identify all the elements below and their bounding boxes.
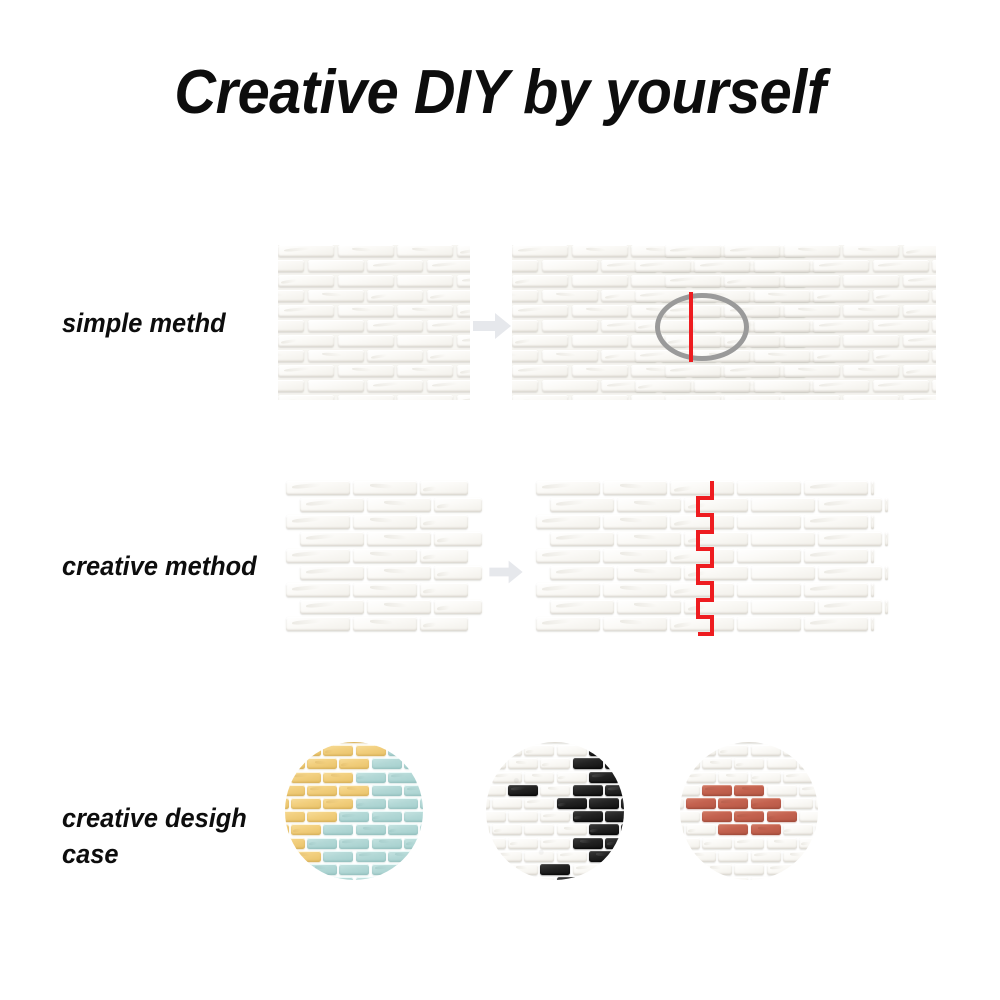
brick	[512, 245, 568, 257]
brick-strip-row	[536, 549, 874, 563]
brick-strip-row	[300, 566, 482, 580]
brick	[512, 380, 538, 392]
brick	[617, 566, 681, 580]
brick	[885, 600, 888, 614]
brick	[367, 320, 423, 332]
brick	[799, 742, 818, 743]
brick	[724, 245, 780, 257]
brick	[367, 600, 431, 614]
brick	[356, 798, 386, 809]
brick	[572, 395, 628, 400]
brick	[367, 380, 423, 392]
brick	[372, 811, 402, 822]
brick	[285, 772, 289, 783]
brick	[621, 824, 624, 835]
brick	[684, 532, 748, 546]
brick	[680, 864, 700, 875]
brick	[784, 335, 840, 347]
brick	[799, 864, 818, 875]
brick	[540, 742, 570, 743]
page-title: Creative DIY by yourself	[35, 58, 965, 128]
brick	[589, 798, 619, 809]
brick	[308, 260, 364, 272]
brick	[702, 864, 732, 875]
brick-strip-row	[286, 617, 468, 631]
brick	[680, 838, 700, 849]
brick	[397, 305, 453, 317]
brick	[492, 798, 522, 809]
brick-strip-row	[300, 532, 482, 546]
brick	[694, 260, 750, 272]
row-label-design-case: creative desigh case	[62, 800, 247, 872]
brick	[536, 583, 600, 597]
brick	[512, 365, 568, 377]
brick	[589, 851, 619, 862]
brick-strip-row	[536, 617, 874, 631]
brick	[724, 275, 780, 287]
brick	[540, 864, 570, 875]
brick-strip-row	[536, 515, 874, 529]
brick	[617, 498, 681, 512]
brick	[300, 566, 364, 580]
brick	[300, 498, 364, 512]
brick	[573, 785, 603, 796]
brick	[686, 877, 716, 880]
brick-strip-row	[286, 549, 468, 563]
brick	[572, 335, 628, 347]
brick-strip-row	[536, 481, 874, 495]
brick	[307, 811, 337, 822]
brick	[323, 824, 353, 835]
brick	[818, 532, 882, 546]
brick	[843, 305, 899, 317]
brick	[300, 600, 364, 614]
brick	[932, 260, 936, 272]
brick	[784, 275, 840, 287]
brick	[751, 877, 781, 880]
brick	[278, 350, 304, 362]
brick	[291, 851, 321, 862]
brick	[737, 481, 801, 495]
brick	[372, 864, 402, 875]
brick	[873, 380, 929, 392]
brick-wall	[680, 742, 818, 880]
brick	[784, 305, 840, 317]
brick	[356, 745, 386, 756]
brick	[557, 798, 587, 809]
brick	[670, 481, 734, 495]
brick	[323, 798, 353, 809]
brick	[557, 772, 587, 783]
brick	[734, 864, 764, 875]
brick	[420, 772, 423, 783]
brick	[285, 824, 289, 835]
brick	[818, 498, 882, 512]
brick-strip-row	[286, 515, 468, 529]
brick	[291, 877, 321, 880]
brick	[603, 481, 667, 495]
brick	[486, 798, 490, 809]
brick	[621, 772, 624, 783]
brick	[486, 838, 506, 849]
brick	[542, 380, 598, 392]
brick	[404, 785, 423, 796]
brick	[724, 395, 780, 400]
brick	[457, 335, 471, 347]
brick	[815, 877, 818, 880]
brick	[434, 532, 482, 546]
brick	[737, 617, 801, 631]
brick	[557, 877, 587, 880]
brick	[665, 275, 721, 287]
brick	[754, 260, 810, 272]
brick	[512, 275, 568, 287]
brick	[813, 260, 869, 272]
brick	[420, 877, 423, 880]
brick	[605, 811, 624, 822]
brick	[285, 838, 305, 849]
brick	[813, 320, 869, 332]
brick	[635, 380, 691, 392]
brick	[524, 824, 554, 835]
brick	[605, 838, 624, 849]
brick	[589, 772, 619, 783]
brick	[767, 785, 797, 796]
brick	[367, 566, 431, 580]
brick	[285, 851, 289, 862]
brick	[734, 838, 764, 849]
brick	[420, 798, 423, 809]
brick	[278, 245, 334, 257]
brick	[372, 742, 402, 743]
brick	[512, 260, 538, 272]
brick	[308, 320, 364, 332]
brick	[783, 745, 813, 756]
brick-wall	[278, 245, 470, 400]
brick	[404, 838, 423, 849]
brick	[278, 395, 334, 400]
brick	[635, 260, 691, 272]
brick	[903, 395, 937, 400]
brick	[278, 305, 334, 317]
brick	[813, 290, 869, 302]
brick	[702, 742, 732, 743]
brick	[573, 838, 603, 849]
brick	[767, 864, 797, 875]
brick	[307, 864, 337, 875]
brick	[702, 811, 732, 822]
brick	[291, 772, 321, 783]
brick	[486, 745, 490, 756]
brick	[356, 824, 386, 835]
brick	[686, 772, 716, 783]
brick-strip-row	[550, 532, 888, 546]
brick	[815, 851, 818, 862]
brick	[751, 798, 781, 809]
brick	[339, 785, 369, 796]
brick	[603, 617, 667, 631]
right-arrow-icon	[472, 310, 512, 347]
brick	[278, 380, 304, 392]
brick	[420, 851, 423, 862]
brick	[932, 290, 936, 302]
brick	[540, 811, 570, 822]
brick	[799, 811, 818, 822]
brick	[285, 811, 305, 822]
brick	[686, 851, 716, 862]
brick	[603, 549, 667, 563]
brick	[684, 600, 748, 614]
brick	[323, 745, 353, 756]
brick	[356, 772, 386, 783]
brick	[799, 758, 818, 769]
brick	[339, 742, 369, 743]
brick	[670, 617, 734, 631]
brick	[804, 617, 868, 631]
brick	[285, 798, 289, 809]
brick	[751, 566, 815, 580]
brick-strip-row	[550, 566, 888, 580]
brick	[871, 583, 874, 597]
brick	[492, 772, 522, 783]
brick	[680, 798, 684, 809]
brick	[783, 824, 813, 835]
brick	[605, 785, 624, 796]
brick	[932, 380, 936, 392]
brick	[540, 838, 570, 849]
brick	[508, 838, 538, 849]
brick	[767, 758, 797, 769]
brick	[524, 745, 554, 756]
brick	[724, 365, 780, 377]
brick	[508, 811, 538, 822]
brick	[589, 877, 619, 880]
brick	[307, 838, 337, 849]
brick	[784, 395, 840, 400]
brick	[767, 838, 797, 849]
brick	[767, 811, 797, 822]
brick	[686, 745, 716, 756]
brick	[492, 745, 522, 756]
brick	[873, 320, 929, 332]
brick	[589, 824, 619, 835]
brick	[751, 824, 781, 835]
brick	[512, 320, 538, 332]
brick	[815, 824, 818, 835]
brick	[420, 583, 468, 597]
brick	[434, 498, 482, 512]
brick	[372, 758, 402, 769]
brick	[589, 745, 619, 756]
design-case-diagonal-two-tone	[285, 742, 423, 880]
brick	[680, 745, 684, 756]
brick	[278, 275, 334, 287]
brick	[670, 515, 734, 529]
brick	[278, 335, 334, 347]
brick	[492, 877, 522, 880]
brick	[680, 758, 700, 769]
brick	[754, 290, 810, 302]
brick	[427, 260, 470, 272]
brick	[308, 380, 364, 392]
brick	[397, 245, 453, 257]
brick	[557, 824, 587, 835]
brick-strip-row	[300, 498, 482, 512]
brick	[680, 785, 700, 796]
brick	[457, 275, 471, 287]
brick	[307, 785, 337, 796]
brick	[843, 245, 899, 257]
brick	[286, 617, 350, 631]
brick	[540, 785, 570, 796]
brick	[338, 335, 394, 347]
brick	[572, 305, 628, 317]
brick	[397, 275, 453, 287]
brick	[885, 498, 888, 512]
brick	[702, 758, 732, 769]
brick	[557, 851, 587, 862]
brick	[339, 864, 369, 875]
brick	[572, 365, 628, 377]
brick	[307, 742, 337, 743]
brick	[542, 350, 598, 362]
brick	[434, 566, 482, 580]
brick	[353, 515, 417, 529]
brick	[694, 380, 750, 392]
brick	[617, 600, 681, 614]
brick	[508, 758, 538, 769]
brick	[420, 824, 423, 835]
brick	[420, 515, 468, 529]
brick	[486, 824, 490, 835]
brick	[718, 851, 748, 862]
brick	[804, 549, 868, 563]
brick	[278, 320, 304, 332]
straight-seam-line	[689, 292, 693, 362]
brick	[536, 515, 600, 529]
brick	[367, 532, 431, 546]
brick	[603, 583, 667, 597]
brick	[338, 365, 394, 377]
brick	[550, 600, 614, 614]
brick	[550, 532, 614, 546]
brick	[873, 350, 929, 362]
brick	[367, 350, 423, 362]
brick	[573, 811, 603, 822]
brick	[617, 532, 681, 546]
brick	[754, 350, 810, 362]
brick	[783, 877, 813, 880]
brick	[684, 566, 748, 580]
brick	[734, 758, 764, 769]
brick	[718, 798, 748, 809]
brick	[813, 350, 869, 362]
brick	[492, 851, 522, 862]
brick-strip-row	[536, 583, 874, 597]
brick	[932, 320, 936, 332]
brick	[372, 838, 402, 849]
brick	[285, 864, 305, 875]
brick	[818, 600, 882, 614]
panel-creative-after	[536, 481, 888, 633]
brick	[873, 290, 929, 302]
brick	[680, 811, 700, 822]
brick	[718, 772, 748, 783]
design-case-red-accent-cluster	[680, 742, 818, 880]
brick	[457, 305, 471, 317]
brick	[367, 290, 423, 302]
brick	[338, 305, 394, 317]
brick	[356, 851, 386, 862]
brick	[670, 549, 734, 563]
brick	[372, 785, 402, 796]
brick	[285, 742, 305, 743]
brick	[542, 320, 598, 332]
brick	[737, 549, 801, 563]
brick	[702, 838, 732, 849]
brick	[524, 851, 554, 862]
brick	[903, 335, 937, 347]
brick	[388, 877, 418, 880]
brick	[572, 245, 628, 257]
brick	[815, 772, 818, 783]
brick	[818, 566, 882, 580]
brick	[397, 395, 453, 400]
brick	[404, 758, 423, 769]
brick	[285, 758, 305, 769]
brick	[605, 742, 624, 743]
brick	[843, 335, 899, 347]
brick	[737, 583, 801, 597]
brick	[684, 498, 748, 512]
brick-wall-right	[724, 245, 936, 400]
brick	[665, 245, 721, 257]
brick	[813, 380, 869, 392]
brick-wall	[285, 742, 423, 880]
brick	[871, 515, 874, 529]
brick	[388, 851, 418, 862]
brick	[285, 745, 289, 756]
brick	[420, 549, 468, 563]
row-label-simple-method: simple methd	[62, 305, 226, 341]
brick	[388, 824, 418, 835]
brick	[323, 877, 353, 880]
panel-simple-before	[278, 245, 470, 400]
brick	[665, 365, 721, 377]
brick	[799, 838, 818, 849]
brick	[486, 851, 490, 862]
brick	[353, 617, 417, 631]
brick	[486, 864, 506, 875]
brick	[486, 811, 506, 822]
brick	[353, 481, 417, 495]
design-case-black-white-pixel	[486, 742, 624, 880]
brick	[323, 772, 353, 783]
brick	[420, 745, 423, 756]
brick-wall	[486, 742, 624, 880]
brick	[486, 758, 506, 769]
brick	[524, 798, 554, 809]
brick-strip-row	[550, 600, 888, 614]
brick	[605, 758, 624, 769]
brick	[680, 824, 684, 835]
brick	[751, 532, 815, 546]
brick	[512, 350, 538, 362]
brick-strip-row	[550, 498, 888, 512]
brick-strip-row	[286, 583, 468, 597]
brick	[508, 742, 538, 743]
brick	[783, 772, 813, 783]
